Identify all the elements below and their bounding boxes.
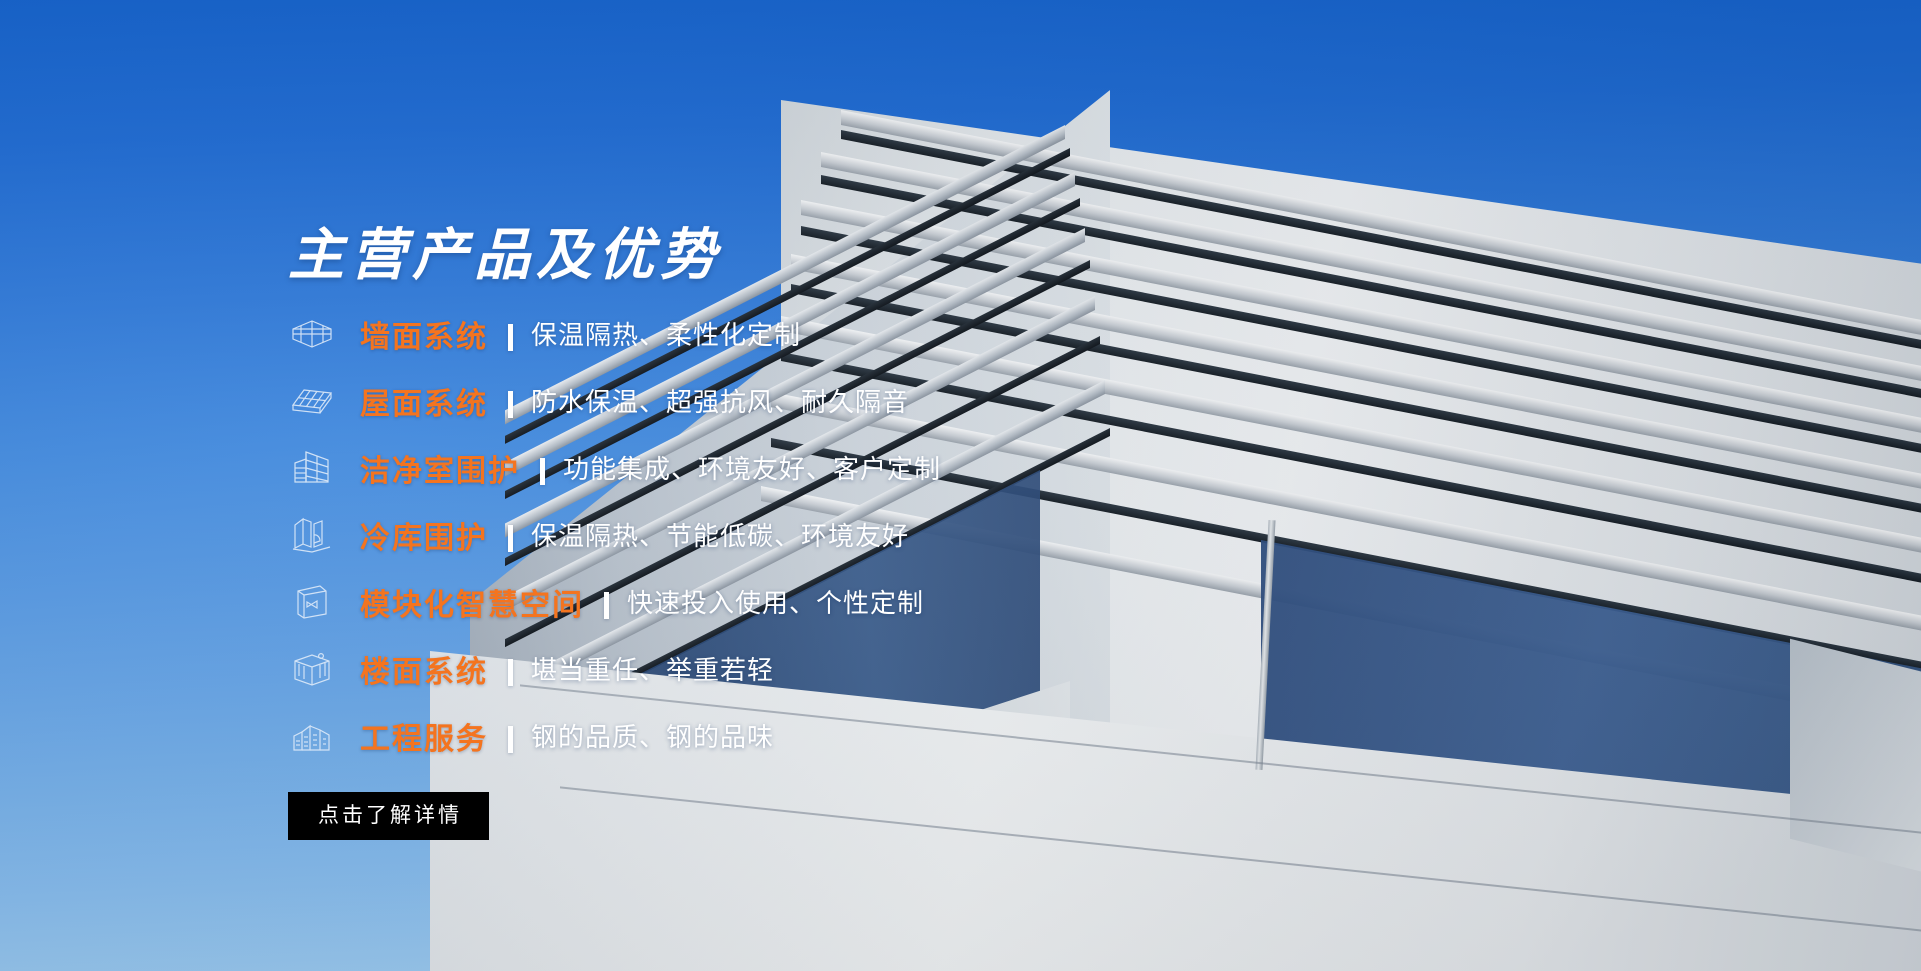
separator-bar — [540, 458, 545, 485]
floor-system-icon — [290, 649, 334, 689]
product-row[interactable]: 洁净室围护 功能集成、环境友好、客户定制 — [290, 434, 941, 501]
product-row[interactable]: 楼面系统 堪当重任、举重若轻 — [290, 635, 941, 702]
engineering-service-icon — [290, 716, 334, 756]
product-name: 冷库围护 — [360, 513, 488, 557]
product-list: 墙面系统 保温隔热、柔性化定制 屋面系统 防水保温、超强抗风、 — [290, 300, 941, 769]
product-desc: 保温隔热、节能低碳、环境友好 — [531, 516, 909, 553]
wall-system-icon — [290, 314, 334, 354]
separator-bar — [508, 726, 513, 753]
product-desc: 钢的品质、钢的品味 — [531, 717, 774, 754]
learn-more-button[interactable]: 点击了解详情 — [288, 792, 489, 840]
product-name: 墙面系统 — [360, 312, 488, 356]
product-name: 洁净室围护 — [360, 446, 520, 490]
product-name: 工程服务 — [360, 714, 488, 758]
product-desc: 防水保温、超强抗风、耐久隔音 — [531, 382, 909, 419]
product-row[interactable]: 工程服务 钢的品质、钢的品味 — [290, 702, 941, 769]
product-row[interactable]: 屋面系统 防水保温、超强抗风、耐久隔音 — [290, 367, 941, 434]
hero-content: 主营产品及优势 墙面系统 保温隔热、柔性化定制 — [0, 0, 1100, 971]
product-desc: 快速投入使用、个性定制 — [627, 583, 924, 620]
product-desc: 保温隔热、柔性化定制 — [531, 315, 801, 352]
product-name: 楼面系统 — [360, 647, 488, 691]
separator-bar — [508, 525, 513, 552]
product-desc: 功能集成、环境友好、客户定制 — [563, 449, 941, 486]
roof-system-icon — [290, 381, 334, 421]
product-row[interactable]: 模块化智慧空间 快速投入使用、个性定制 — [290, 568, 941, 635]
cold-storage-envelope-icon — [290, 515, 334, 555]
separator-bar — [508, 659, 513, 686]
product-name: 模块化智慧空间 — [360, 580, 584, 624]
product-row[interactable]: 冷库围护 保温隔热、节能低碳、环境友好 — [290, 501, 941, 568]
product-row[interactable]: 墙面系统 保温隔热、柔性化定制 — [290, 300, 941, 367]
page-title: 主营产品及优势 — [288, 210, 722, 291]
modular-smart-space-icon — [290, 582, 334, 622]
cleanroom-envelope-icon — [290, 448, 334, 488]
product-desc: 堪当重任、举重若轻 — [531, 650, 774, 687]
separator-bar — [508, 391, 513, 418]
separator-bar — [604, 592, 609, 619]
product-name: 屋面系统 — [360, 379, 488, 423]
hero-banner: 主营产品及优势 墙面系统 保温隔热、柔性化定制 — [0, 0, 1921, 971]
separator-bar — [508, 324, 513, 351]
